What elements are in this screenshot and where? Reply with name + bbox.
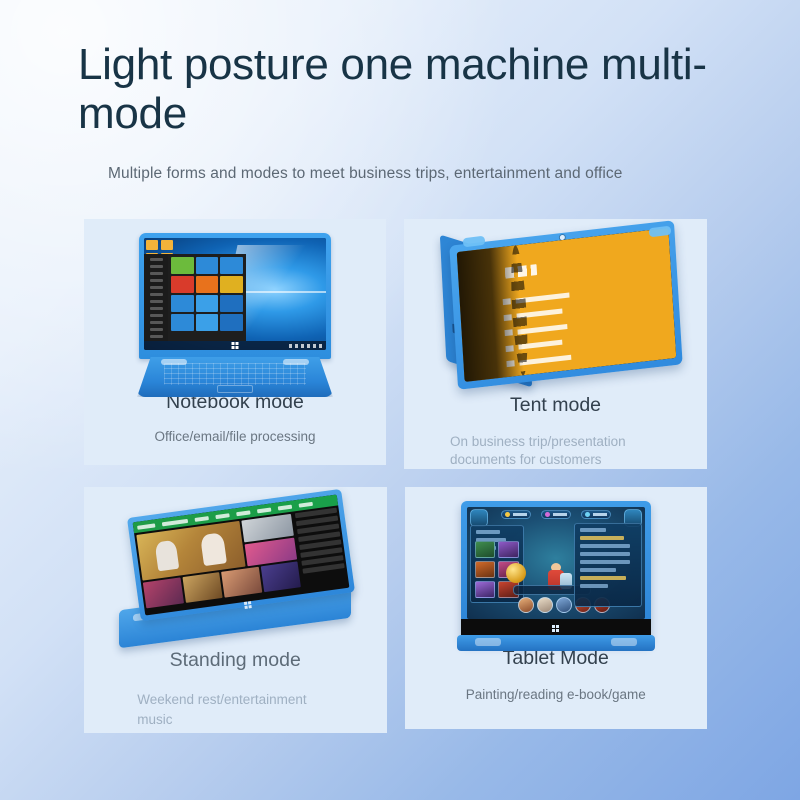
promo-page: Light posture one machine multi-mode Mul… [0, 0, 800, 800]
card-title-tent: Tent mode [510, 394, 601, 417]
start-menu-app-list [144, 254, 168, 341]
game-screen [467, 507, 645, 619]
currency-gem [541, 510, 571, 519]
tablet-folded-keyboard [457, 635, 655, 651]
screen-glare-shadow [456, 245, 523, 382]
page-title: Light posture one machine multi-mode [78, 40, 738, 139]
start-menu-tiles [168, 254, 246, 341]
mode-card-tablet[interactable]: Tablet Mode Painting/reading e-book/game [405, 487, 708, 729]
game-resource-bar [467, 507, 645, 522]
card-caption-standing: Weekend rest/entertainment music [137, 690, 333, 731]
tent-display-panel [449, 220, 682, 390]
windows-logo-icon [552, 625, 559, 632]
mode-card-grid: Notebook mode Office/email/file processi… [84, 219, 707, 733]
tent-screen [456, 228, 676, 382]
windows-start-icon [232, 342, 239, 349]
mode-card-notebook[interactable]: Notebook mode Office/email/file processi… [84, 219, 386, 465]
page-subtitle: Multiple forms and modes to meet busines… [108, 165, 738, 183]
card-caption-tent: On business trip/presentation documents … [450, 433, 626, 469]
card-caption-tablet: Painting/reading e-book/game [466, 686, 646, 704]
side-thumbnails [242, 514, 297, 566]
currency-gold [501, 510, 531, 519]
game-stats-panel [574, 523, 642, 607]
card-row-top: Notebook mode Office/email/file processi… [84, 219, 707, 469]
currency-energy [581, 510, 611, 519]
standing-illustration [84, 487, 387, 649]
laptop-tent-device [431, 231, 681, 383]
foot-pad-right [611, 638, 637, 646]
mode-card-tent[interactable]: Tent mode On business trip/presentation … [404, 219, 707, 469]
foot-pad-left [475, 638, 501, 646]
windows-logo-icon [244, 601, 252, 609]
tablet-device [461, 501, 651, 643]
taskbar-tray-icons [289, 344, 323, 348]
card-title-standing: Standing mode [170, 649, 301, 672]
laptop-lid [139, 233, 331, 359]
tablet-illustration [405, 487, 708, 647]
mode-card-standing[interactable]: Standing mode Weekend rest/entertainment… [84, 487, 387, 733]
card-row-bottom: Standing mode Weekend rest/entertainment… [84, 487, 707, 733]
laptop-standing-device [117, 503, 353, 635]
start-menu [144, 254, 246, 341]
laptop-keyboard-base [137, 357, 333, 397]
windows-taskbar [144, 341, 326, 350]
video-sidebar-list [293, 505, 350, 593]
trackpad [217, 385, 253, 393]
keyboard [164, 363, 305, 385]
notebook-illustration [84, 219, 386, 391]
hero-header: Light posture one machine multi-mode Mul… [78, 40, 738, 183]
laptop-screen [144, 238, 326, 350]
laptop-open-device [137, 233, 333, 397]
tent-illustration [404, 219, 707, 394]
card-caption-notebook: Office/email/file processing [154, 428, 315, 446]
